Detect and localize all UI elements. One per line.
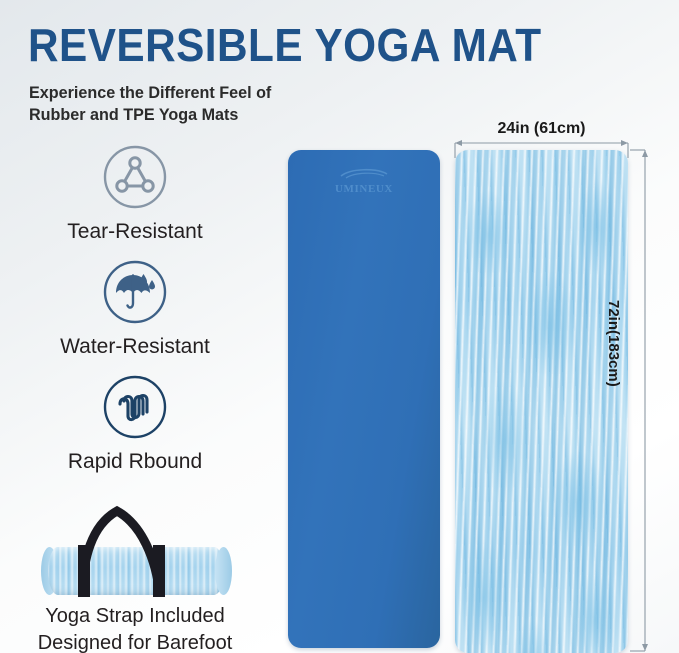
subtitle-line-2: Rubber and TPE Yoga Mats [29,104,314,126]
width-dimension-label: 24in (61cm) [455,120,628,138]
subtitle-line-1: Experience the Different Feel of [29,82,314,104]
brand-logo: UMINEUX [288,166,440,195]
feature-rapid-rebound: Rapid Rbound [20,374,250,474]
texture-blotch [465,190,511,280]
swoosh-icon [337,167,391,179]
rolled-mat-caption-line-1: Yoga Strap Included [20,604,250,629]
tpe-side-mat [455,150,628,653]
feature-tear-resistant: Tear-Resistant [20,144,250,244]
carry-strap-icon [20,487,250,602]
page-title: REVERSIBLE YOGA MAT [28,20,580,70]
spring-coil-icon [20,374,250,445]
rubber-side-mat: UMINEUX [288,150,440,648]
texture-blotch [510,620,554,653]
rolled-mat-art [20,487,250,602]
feature-label: Rapid Rbound [20,449,250,474]
feature-label: Water-Resistant [20,334,250,359]
brand-name: UMINEUX [288,183,440,195]
height-dimension-label: 72in(183cm) [605,300,622,387]
texture-blotch [460,540,508,653]
texture-blotch [480,380,530,500]
rolled-mat-with-strap: Yoga Strap Included Designed for Barefoo… [20,487,250,653]
texture-blotch [550,450,606,555]
texture-blotch [575,180,619,275]
feature-label: Tear-Resistant [20,219,250,244]
rolled-mat-caption-line-2: Designed for Barefoot [20,631,250,653]
product-infographic: REVERSIBLE YOGA MAT Experience the Diffe… [0,0,679,653]
triangle-nodes-icon [20,144,250,215]
texture-blotch [570,570,620,653]
umbrella-raindrops-icon [20,259,250,330]
feature-water-resistant: Water-Resistant [20,259,250,359]
page-subtitle: Experience the Different Feel of Rubber … [29,82,314,126]
texture-blotch [525,270,577,380]
